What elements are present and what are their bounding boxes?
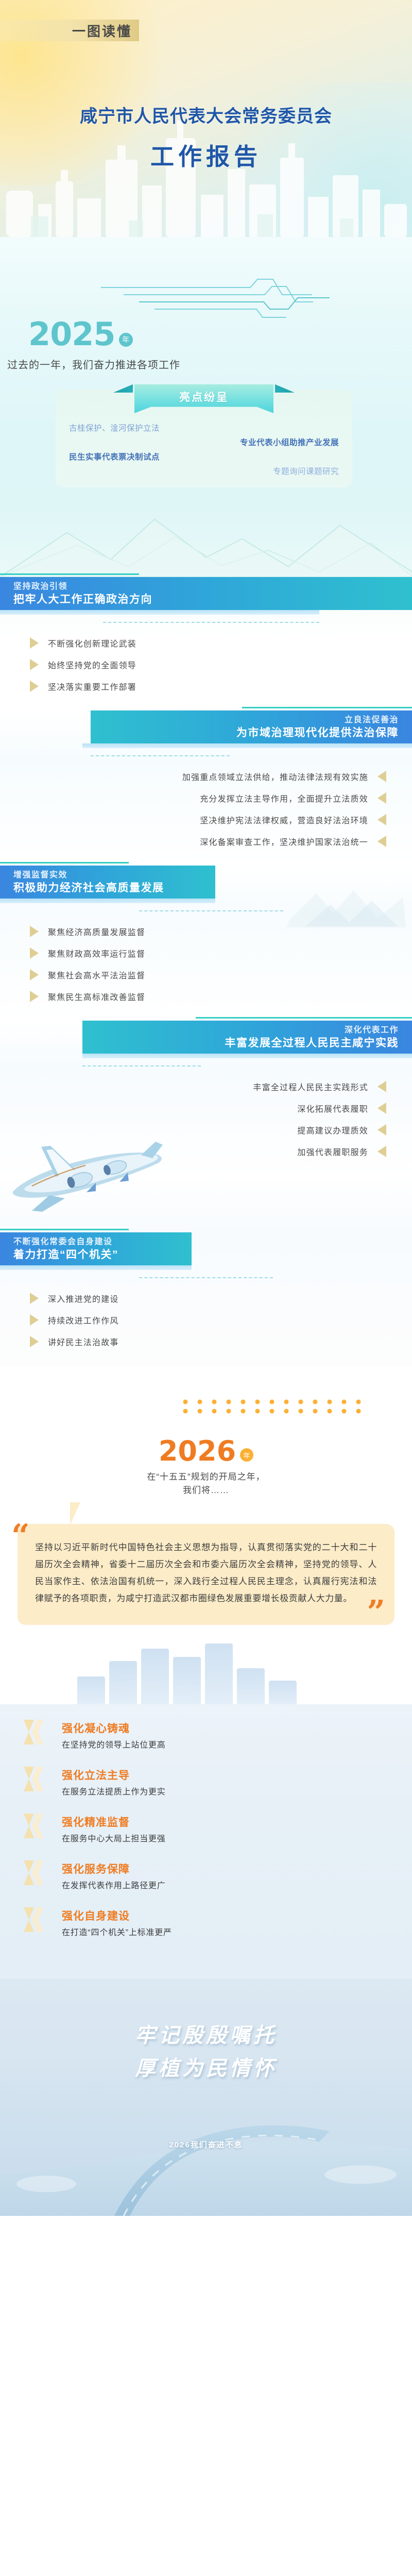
- list-item-label: 加强代表履职服务: [297, 1145, 368, 1158]
- list-item: 聚焦社会高水平法治监督: [30, 964, 412, 986]
- hero-section: 一图读懂 咸宁市人民代表大会常务委员会 工作报告: [0, 0, 412, 237]
- section-underline: [82, 743, 412, 748]
- triangle-bullet-icon: [377, 771, 386, 782]
- highlights-list: 古桂保护、淦河保护立法 专业代表小组助推产业发展 民生实事代表票决制试点 专题询…: [56, 421, 352, 479]
- section-political-leadership: 坚持政治引领 把牢人大工作正确政治方向 不断强化创新理论武装 始终坚持党的全面领…: [0, 577, 412, 710]
- city-skyline-graphic: [0, 108, 412, 237]
- footer-road-label: 2026我们奋进不息: [0, 2139, 412, 2150]
- goal-description: 在发挥代表作用上路径更广: [62, 1879, 412, 1893]
- section-topline: [242, 707, 412, 708]
- highlights-banner-label: 亮点纷呈: [179, 389, 229, 404]
- triangle-bullet-icon: [377, 1081, 386, 1092]
- triangle-bullet-icon: [377, 1124, 386, 1136]
- infographic-page: 一图读懂 咸宁市人民代表大会常务委员会 工作报告 2025 年 过去的一年，我们…: [0, 0, 412, 2576]
- chevron-marker-icon: [23, 1860, 53, 1885]
- list-item: 专业代表小组助推产业发展: [69, 436, 339, 450]
- highlights-card: 亮点纷呈 古桂保护、淦河保护立法 专业代表小组助推产业发展 民生实事代表票决制试…: [56, 389, 352, 487]
- list-item: 坚决维护宪法法律权威，营造良好法治环境: [0, 809, 386, 831]
- chevron-marker-icon: [23, 1720, 53, 1744]
- winding-road-graphic: [0, 2046, 412, 2216]
- goal-title: 强化凝心铸魂: [62, 1721, 412, 1737]
- year-2026-number: 2026: [159, 1438, 236, 1464]
- list-item-label: 坚决维护宪法法律权威，营造良好法治环境: [200, 814, 368, 826]
- list-item: 加强重点领域立法供给，推动法律法规有效实施: [0, 766, 386, 787]
- section-topline: [0, 1229, 129, 1230]
- chevron-marker-icon: [23, 1907, 53, 1932]
- list-item-label: 始终坚持党的全面领导: [48, 658, 136, 671]
- list-item-label: 深化备案审查工作，坚决维护国家法治统一: [200, 835, 368, 848]
- triangle-bullet-icon: [30, 681, 39, 692]
- list-item: 深化拓展代表履职: [0, 1097, 386, 1119]
- triangle-bullet-icon: [30, 1336, 39, 1347]
- ribbon-label: 一图读懂: [72, 21, 132, 40]
- goal-description: 在打造“四个机关”上标准更严: [62, 1926, 412, 1940]
- quote-text: 坚持以习近平新时代中国特色社会主义思想为指导，认真贯彻落实党的二十大和二十届历次…: [35, 1539, 377, 1607]
- list-item: 专题询问课题研究: [69, 465, 339, 479]
- section-supervision: 增强监督实效 积极助力经济社会高质量发展 聚焦经济高质量发展监督 聚焦财政高效率…: [0, 866, 412, 1021]
- quote-close-icon: ”: [367, 1596, 385, 1628]
- section-header-line1: 立良法促善治: [345, 714, 399, 726]
- decorative-lines-graphic: [0, 237, 412, 325]
- goal-item: 强化精准监督 在服务中心大局上担当更强: [0, 1807, 412, 1854]
- list-item: 聚焦财政高效率运行监督: [30, 942, 412, 964]
- goal-title: 强化精准监督: [62, 1815, 412, 1831]
- section-header-line1: 深化代表工作: [345, 1024, 399, 1036]
- top-ribbon: 一图读懂: [0, 20, 139, 41]
- section-header: 坚持政治引领 把牢人大工作正确政治方向: [0, 577, 412, 610]
- section-topline: [196, 1017, 412, 1019]
- pillar-bar: [77, 1676, 105, 1704]
- footer-section: 牢记殷殷嘱托 厚植为民情怀: [0, 1979, 412, 2216]
- section-underline: [0, 899, 215, 903]
- section-underline: [82, 1054, 412, 1058]
- year-2026-desc-line1: 在“十五五”规划的开局之年，: [0, 1470, 412, 1484]
- section-topline: [0, 862, 129, 863]
- list-item-label: 聚焦民生高标准改善监督: [48, 990, 145, 1003]
- pillars-decoration: [0, 1642, 412, 1704]
- section-underline: [0, 610, 319, 615]
- list-item: 深入推进党的建设: [30, 1287, 412, 1309]
- list-item: 民生实事代表票决制试点: [69, 450, 339, 465]
- goal-title: 强化服务保障: [62, 1862, 412, 1877]
- triangle-bullet-icon: [377, 1146, 386, 1157]
- chevron-marker-icon: [23, 1814, 53, 1838]
- year-2025-heading: 2025 年: [28, 319, 133, 350]
- list-item-label: 深入推进党的建设: [48, 1292, 119, 1304]
- pillar-bar: [141, 1649, 169, 1704]
- quote-bubble: “ ” 坚持以习近平新时代中国特色社会主义思想为指导，认真贯彻落实党的二十大和二…: [18, 1524, 394, 1625]
- list-item: 持续改进工作作风: [30, 1309, 412, 1331]
- list-item-label: 持续改进工作作风: [48, 1314, 119, 1326]
- section-header-line1: 不断强化常委会自身建设: [13, 1236, 178, 1248]
- page-subtitle: 工作报告: [0, 138, 412, 172]
- list-item-label: 讲好民主法治故事: [48, 1335, 119, 1348]
- list-item-label: 丰富全过程人民民主实践形式: [253, 1080, 368, 1093]
- list-item: 聚焦民生高标准改善监督: [30, 986, 412, 1007]
- goal-item: 强化自身建设 在打造“四个机关”上标准更严: [0, 1901, 412, 1948]
- banner-tail-left: [113, 384, 133, 393]
- list-item-label: 不断强化创新理论武装: [48, 637, 136, 649]
- year-2026-unit-badge: 年: [240, 1448, 253, 1462]
- section-self-construction: 不断强化常委会自身建设 着力打造“四个机关” 深入推进党的建设 持续改进工作作风…: [0, 1176, 412, 1366]
- section-legislation: 立良法促善治 为市域治理现代化提供法治保障 加强重点领域立法供给，推动法律法规有…: [0, 710, 412, 866]
- year-2026-description: 在“十五五”规划的开局之年， 我们将……: [0, 1470, 412, 1497]
- section-underline: [0, 1265, 192, 1270]
- chevron-marker-icon: [23, 1767, 53, 1791]
- goal-item: 强化凝心铸魂 在坚持党的领导上站位更高: [0, 1714, 412, 1760]
- year-2025-section: 2025 年 过去的一年，我们奋力推进各项工作 亮点纷呈 古桂保护、淦河保护立法…: [0, 237, 412, 577]
- goal-description: 在坚持党的领导上站位更高: [62, 1738, 412, 1753]
- section-header: 立良法促善治 为市域治理现代化提供法治保障: [91, 710, 412, 743]
- dot-pattern-decoration: [183, 1399, 384, 1414]
- section-header: 深化代表工作 丰富发展全过程人民民主咸宁实践: [82, 1021, 412, 1054]
- quote-block: “ ” 坚持以习近平新时代中国特色社会主义思想为指导，认真贯彻落实党的二十大和二…: [18, 1524, 394, 1625]
- pillar-bar: [109, 1661, 137, 1704]
- triangle-bullet-icon: [30, 659, 39, 670]
- triangle-bullet-icon: [30, 969, 39, 980]
- section-header-line1: 坚持政治引领: [13, 581, 399, 592]
- year-2025-number: 2025: [28, 319, 115, 350]
- section-header-line1: 增强监督实效: [13, 869, 202, 881]
- section-header-line2: 积极助力经济社会高质量发展: [13, 881, 202, 895]
- year-2026-heading: 2026 年: [0, 1438, 412, 1464]
- goal-item: 强化服务保障 在发挥代表作用上路径更广: [0, 1854, 412, 1901]
- highlights-banner: 亮点纷呈: [134, 384, 273, 413]
- pillar-bar: [173, 1657, 201, 1704]
- list-item: 讲好民主法治故事: [30, 1331, 412, 1352]
- section-header: 不断强化常委会自身建设 着力打造“四个机关”: [0, 1232, 192, 1265]
- list-item-label: 聚焦社会高水平法治监督: [48, 969, 145, 981]
- airplane-illustration: [5, 1129, 175, 1217]
- triangle-bullet-icon: [30, 991, 39, 1002]
- year-2025-unit-badge: 年: [119, 333, 133, 347]
- list-item: 坚决落实重要工作部署: [30, 675, 412, 697]
- list-item-label: 聚焦财政高效率运行监督: [48, 947, 145, 959]
- triangle-bullet-icon: [377, 814, 386, 825]
- list-item-label: 坚决落实重要工作部署: [48, 680, 136, 692]
- list-item-label: 提高建议办理质效: [297, 1124, 368, 1136]
- list-item: 充分发挥立法主导作用，全面提升立法质效: [0, 787, 386, 809]
- list-item: 始终坚持党的全面领导: [30, 654, 412, 675]
- section-topline: [0, 573, 139, 575]
- triangle-bullet-icon: [30, 1314, 39, 1326]
- section-header-line2: 丰富发展全过程人民民主咸宁实践: [225, 1036, 399, 1050]
- section-header-line2: 着力打造“四个机关”: [13, 1248, 178, 1262]
- page-title: 咸宁市人民代表大会常务委员会: [0, 102, 412, 127]
- list-item-label: 加强重点领域立法供给，推动法律法规有效实施: [182, 770, 368, 783]
- goal-title: 强化立法主导: [62, 1768, 412, 1784]
- pillar-bar: [237, 1668, 265, 1704]
- section-header-line2: 把牢人大工作正确政治方向: [13, 592, 399, 607]
- triangle-bullet-icon: [30, 926, 39, 937]
- pillar-bar: [205, 1643, 233, 1704]
- list-item-label: 深化拓展代表履职: [297, 1102, 368, 1114]
- goal-item: 强化立法主导 在服务立法提质上作为更实: [0, 1760, 412, 1807]
- quote-open-icon: “: [11, 1520, 30, 1552]
- triangle-bullet-icon: [377, 792, 386, 804]
- list-item: 古桂保护、淦河保护立法: [69, 421, 339, 436]
- section-body: 深入推进党的建设 持续改进工作作风 讲好民主法治故事: [0, 1278, 412, 1366]
- year-2025-description: 过去的一年，我们奋力推进各项工作: [7, 357, 180, 371]
- banner-tail-right: [275, 384, 295, 393]
- section-header: 增强监督实效 积极助力经济社会高质量发展: [0, 866, 215, 899]
- list-item-label: 充分发挥立法主导作用，全面提升立法质效: [200, 792, 368, 804]
- triangle-bullet-icon: [377, 1103, 386, 1114]
- list-item-label: 聚焦经济高质量发展监督: [48, 925, 145, 938]
- year-2026-section: 2026 年 在“十五五”规划的开局之年， 我们将…… “ ” 坚持以习近平新时…: [0, 1366, 412, 1704]
- goal-description: 在服务立法提质上作为更实: [62, 1785, 412, 1800]
- list-item: 不断强化创新理论武装: [30, 632, 412, 654]
- section-header-line2: 为市域治理现代化提供法治保障: [236, 726, 399, 740]
- goal-title: 强化自身建设: [62, 1909, 412, 1924]
- pillar-bar: [269, 1681, 297, 1704]
- mountains-graphic: [0, 489, 412, 577]
- triangle-bullet-icon: [377, 836, 386, 847]
- year-2026-desc-line2: 我们将……: [0, 1484, 412, 1497]
- list-item: 深化备案审查工作，坚决维护国家法治统一: [0, 831, 386, 852]
- list-item: 丰富全过程人民民主实践形式: [0, 1076, 386, 1097]
- triangle-bullet-icon: [30, 637, 39, 649]
- triangle-bullet-icon: [30, 1293, 39, 1304]
- goals-section: 强化凝心铸魂 在坚持党的领导上站位更高 强化立法主导 在服务立法提质上作为更实 …: [0, 1704, 412, 1979]
- goal-description: 在服务中心大局上担当更强: [62, 1832, 412, 1846]
- triangle-bullet-icon: [30, 947, 39, 959]
- section-body: 加强重点领域立法供给，推动法律法规有效实施 充分发挥立法主导作用，全面提升立法质…: [0, 756, 412, 866]
- section-body: 不断强化创新理论武装 始终坚持党的全面领导 坚决落实重要工作部署: [0, 623, 412, 710]
